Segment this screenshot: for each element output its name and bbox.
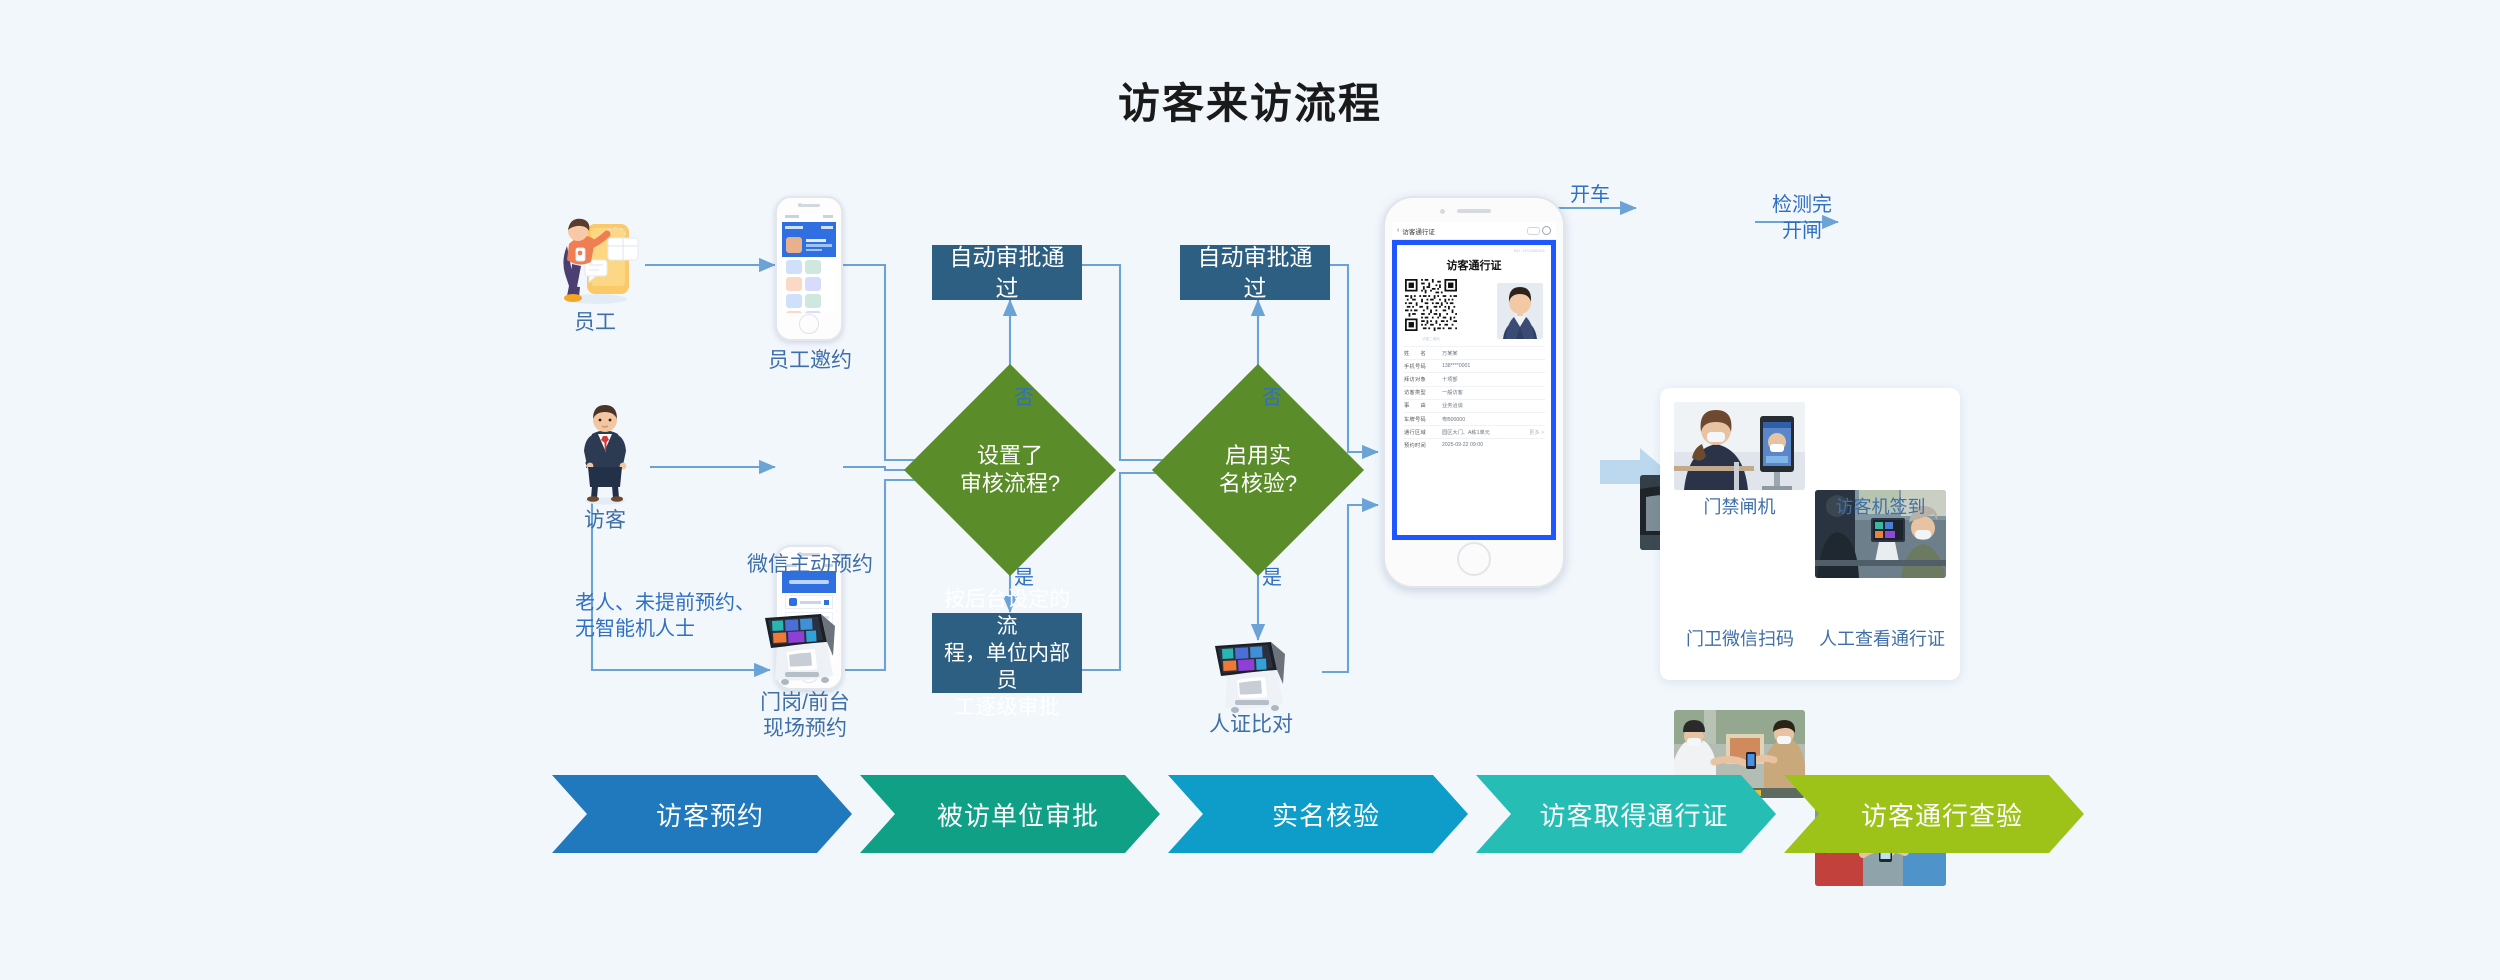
pass-field-row: 车牌号码粤B00000 — [1403, 412, 1545, 425]
qr-code-icon — [1405, 279, 1457, 331]
pass-nav-title: 访客通行证 — [1402, 226, 1435, 236]
node-decision-realname: 启用实 名核验? — [1183, 395, 1333, 545]
onsite-kiosk-icon — [755, 612, 847, 687]
label-gate-open: 检测完 开闸 — [1762, 192, 1842, 244]
visitor-avatar — [1497, 283, 1543, 339]
node-auto-approve-2: 自动审批通过 — [1180, 245, 1330, 300]
node-auto-approve-1: 自动审批通过 — [932, 245, 1082, 300]
label-access-gate: 门禁闸机 — [1674, 494, 1805, 520]
id-match-kiosk-icon — [1205, 640, 1297, 715]
label-yes-2: 是 — [1262, 565, 1302, 591]
label-visitor: 访客 — [555, 508, 655, 534]
employee-illustration — [545, 200, 645, 305]
pass-field-row: 事 由业务洽谈 — [1403, 399, 1545, 412]
node-manual-approve: 按后台设定的流 程，单位内部员 工逐级审批 — [932, 613, 1082, 693]
pass-field-row: 通行区域园区大门、A栋1单元更多 > — [1403, 425, 1545, 438]
label-visitor-machine: 访客机签到 — [1815, 494, 1946, 520]
stage-label-1: 访客预约 — [656, 796, 764, 833]
stage-label-3: 实名核验 — [1272, 796, 1380, 833]
label-guard-scan: 门卫微信扫码 — [1666, 626, 1814, 652]
visitor-illustration — [570, 400, 640, 505]
target-circle-icon[interactable] — [1542, 226, 1551, 235]
label-employee-invite: 员工邀约 — [755, 348, 865, 374]
page-title: 访客来访流程 — [0, 70, 2500, 131]
stage-chevron-4[interactable]: 访客取得通行证 — [1476, 775, 1776, 853]
label-drive: 开车 — [1540, 182, 1640, 208]
stage-chevron-2[interactable]: 被访单位审批 — [860, 775, 1160, 853]
label-employee: 员工 — [545, 310, 645, 336]
pass-field-row: 预约时间2025-09-22 09:00 — [1403, 438, 1545, 451]
stage-label-4: 访客取得通行证 — [1539, 796, 1728, 833]
stage-chevron-1[interactable]: 访客预约 — [552, 775, 852, 853]
pass-field-row: 访客类型一般访客 — [1403, 386, 1545, 399]
back-chevron-icon[interactable]: ‹ — [1397, 227, 1399, 234]
stage-chevron-3[interactable]: 实名核验 — [1168, 775, 1468, 853]
employee-invite-phone — [775, 196, 843, 341]
more-link[interactable]: 更多 > — [1529, 429, 1544, 436]
decision-1-text: 设置了 审核流程? — [935, 395, 1085, 545]
stage-chevron-5[interactable]: 访客通行查验 — [1784, 775, 2084, 853]
pass-card-title: 访客通行证 — [1403, 257, 1545, 273]
pass-field-row: 拜访对象十项部 — [1403, 372, 1545, 385]
label-no-2: 否 — [1262, 385, 1302, 411]
stage-label-5: 访客通行查验 — [1861, 796, 2023, 833]
label-yes-1: 是 — [1014, 565, 1054, 591]
face-terminal-photo — [1674, 402, 1805, 490]
more-dots-icon[interactable] — [1527, 227, 1540, 235]
diagram-canvas: 访客来访流程 — [0, 0, 2500, 980]
pass-fields: 姓 名万某某 手机号码138****0001 拜访对象十项部 访客类型一般访客 … — [1403, 346, 1545, 452]
stage-band: 访客预约 被访单位审批 实名核验 访客取得通行证 访客通行查验 — [552, 775, 1952, 853]
qr-caption: 访客二维码 — [1405, 337, 1457, 342]
pass-card-number: NO. 17C1000101 — [1514, 248, 1545, 253]
label-manual-check: 人工查看通行证 — [1808, 626, 1956, 652]
label-wechat-booking: 微信主动预约 — [740, 552, 880, 578]
pass-field-row: 姓 名万某某 — [1403, 346, 1545, 359]
verify-methods-panel: 门禁闸机 — [1660, 388, 1960, 680]
label-no-1: 否 — [1014, 385, 1054, 411]
stage-label-2: 被访单位审批 — [937, 796, 1099, 833]
label-id-match: 人证比对 — [1196, 712, 1306, 738]
pass-nav-bar: ‹ 访客通行证 — [1392, 222, 1556, 240]
label-onsite-booking: 门岗/前台 现场预约 — [740, 690, 870, 742]
decision-2-text: 启用实 名核验? — [1183, 395, 1333, 545]
node-decision-review-flow: 设置了 审核流程? — [935, 395, 1085, 545]
pass-field-row: 手机号码138****0001 — [1403, 359, 1545, 372]
visitor-pass-phone: ‹ 访客通行证 NO. 17C1000101 访客通行证 — [1383, 196, 1565, 588]
